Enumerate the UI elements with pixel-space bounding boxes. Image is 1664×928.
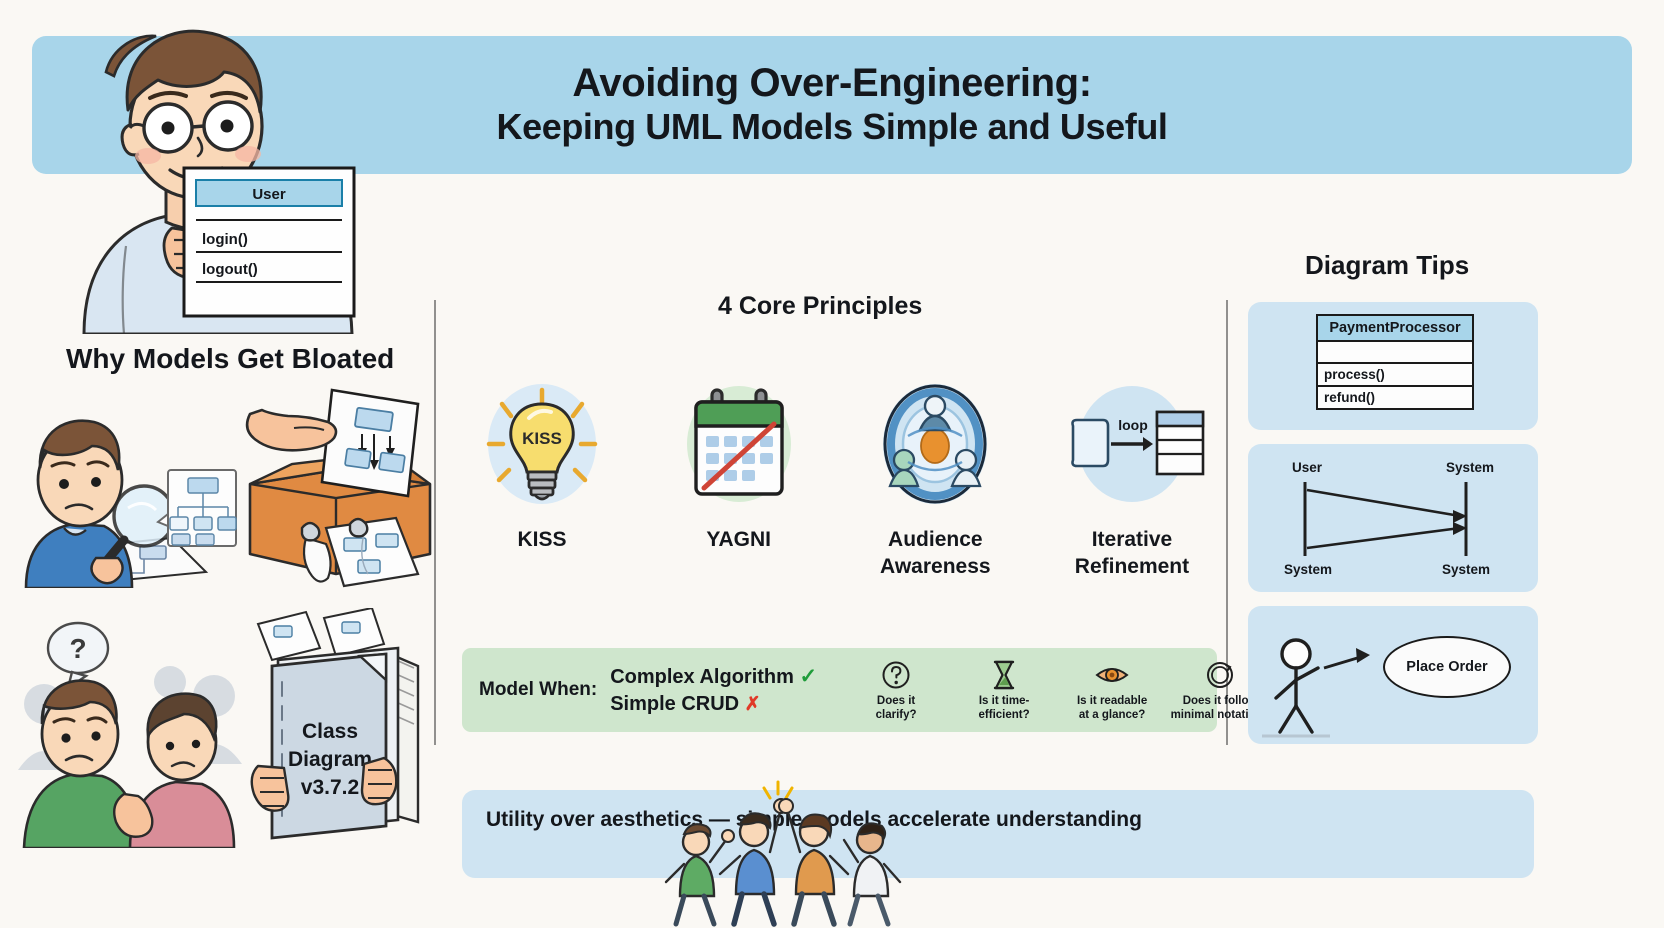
check-readable-text: Is it readable at a glance? bbox=[1077, 695, 1147, 723]
principle-label-kiss: KISS bbox=[517, 527, 566, 554]
tip-card-use-case-diagram[interactable]: Place Order bbox=[1248, 606, 1538, 744]
model-when-rows: Complex Algorithm ✓ Simple CRUD ✗ bbox=[610, 663, 817, 718]
use-case-oval: Place Order bbox=[1383, 636, 1511, 698]
actor-arrow bbox=[1324, 648, 1370, 668]
magnifier-person-illustration bbox=[20, 388, 240, 588]
uml-class-name: PaymentProcessor bbox=[1318, 316, 1472, 342]
team-member-orange bbox=[779, 799, 848, 924]
principle-audience-awareness[interactable]: Audience Awareness bbox=[845, 382, 1025, 612]
audience-target-icon bbox=[860, 382, 1010, 507]
model-when-text-no: Simple CRUD bbox=[610, 693, 739, 715]
team-high-five-illustration bbox=[660, 778, 910, 928]
uml-method-1: refund() bbox=[1318, 387, 1472, 408]
principle-iterative-refinement[interactable]: loop Iterative Refinement bbox=[1042, 382, 1222, 612]
audience-label-line-1: Audience bbox=[888, 528, 983, 551]
team-member-white bbox=[844, 823, 900, 924]
audience-label-line-2: Awareness bbox=[880, 555, 991, 578]
check-clarify-text: Does it clarify? bbox=[876, 695, 917, 723]
check-time-efficient-text: Is it time- efficient? bbox=[979, 695, 1030, 723]
confused-people-illustration: ? bbox=[18, 618, 248, 848]
diagram-tips-heading: Diagram Tips bbox=[1305, 250, 1469, 281]
question-speech-bubble: ? bbox=[48, 623, 108, 688]
lightbulb-icon: KISS bbox=[467, 382, 617, 507]
core-principles-heading: 4 Core Principles bbox=[718, 292, 922, 321]
bottom-message-banner: Utility over aesthetics — simple models … bbox=[462, 790, 1534, 878]
hero-card-class-name: User bbox=[252, 186, 286, 203]
loop-label: loop bbox=[1118, 417, 1148, 433]
question-mark-glyph: ? bbox=[69, 633, 86, 664]
held-class-card: User login() logout() bbox=[184, 168, 354, 316]
hero-card-method-0: login() bbox=[202, 231, 248, 248]
calendar-crossed-icon bbox=[664, 382, 814, 507]
principle-label-iterative: Iterative Refinement bbox=[1075, 527, 1189, 581]
team-member-green bbox=[666, 824, 734, 924]
hourglass-icon bbox=[989, 658, 1019, 692]
cross-mark-icon: ✗ bbox=[745, 694, 761, 715]
loop-refinement-icon: loop bbox=[1057, 382, 1207, 507]
inserted-diagram-sheet bbox=[322, 390, 418, 496]
uml-attributes-compartment bbox=[1318, 342, 1472, 364]
title-line-1: Avoiding Over-Engineering: bbox=[572, 61, 1091, 106]
model-when-row-no: Simple CRUD ✗ bbox=[610, 691, 817, 718]
why-bloated-heading: Why Models Get Bloated bbox=[66, 343, 394, 375]
quality-checklist: Does it clarify? Is it time- efficient? bbox=[842, 658, 1280, 723]
spec-book-illustration: Class Diagram v3.7.2 bbox=[248, 608, 433, 853]
check-readable[interactable]: Is it readable at a glance? bbox=[1058, 658, 1166, 723]
principle-label-audience: Audience Awareness bbox=[880, 527, 991, 581]
question-circle-icon bbox=[881, 658, 911, 692]
book-title-line-3: v3.7.2 bbox=[301, 776, 359, 799]
principle-yagni[interactable]: YAGNI bbox=[649, 382, 829, 612]
model-when-text-yes: Complex Algorithm bbox=[610, 666, 794, 688]
model-when-label: Model When: bbox=[479, 679, 597, 701]
principle-kiss[interactable]: KISS KISS bbox=[452, 382, 632, 612]
title-line-2: Keeping UML Models Simple and Useful bbox=[496, 105, 1167, 149]
check-time-efficient[interactable]: Is it time- efficient? bbox=[950, 658, 1058, 723]
circular-arrow-icon bbox=[1205, 658, 1235, 692]
iterative-label-line-1: Iterative bbox=[1092, 528, 1173, 551]
source-sketch-box bbox=[1072, 420, 1108, 466]
hand-pushing-paper bbox=[247, 410, 336, 450]
check-mark-icon: ✓ bbox=[799, 665, 817, 688]
eye-icon bbox=[1095, 658, 1129, 692]
focus-dot bbox=[921, 429, 949, 463]
bulb-badge-text: KISS bbox=[522, 429, 562, 448]
uml-method-0: process() bbox=[1318, 364, 1472, 387]
book-title-line-1: Class bbox=[302, 720, 358, 743]
book-title-line-2: Diagram bbox=[288, 748, 372, 771]
stick-figure-actor bbox=[1276, 640, 1318, 732]
refined-table bbox=[1157, 412, 1203, 474]
uml-class-box: PaymentProcessor process() refund() bbox=[1316, 314, 1474, 410]
model-when-band: Model When: Complex Algorithm ✓ Simple C… bbox=[462, 648, 1217, 732]
hero-person-illustration: User login() logout() bbox=[62, 14, 402, 334]
team-member-blue bbox=[720, 799, 788, 924]
core-principles-row: KISS KISS bbox=[452, 382, 1222, 612]
check-clarify[interactable]: Does it clarify? bbox=[842, 658, 950, 723]
iterative-label-line-2: Refinement bbox=[1075, 555, 1189, 578]
stuffing-box-illustration bbox=[240, 378, 440, 588]
infographic-canvas: Avoiding Over-Engineering: Keeping UML M… bbox=[0, 0, 1664, 928]
model-when-row-yes: Complex Algorithm ✓ bbox=[610, 663, 817, 691]
principle-label-yagni: YAGNI bbox=[706, 527, 771, 554]
hero-card-method-1: logout() bbox=[202, 261, 258, 278]
high-five-spark bbox=[764, 782, 792, 798]
sequence-diagram-graphic bbox=[1248, 444, 1538, 592]
tip-card-sequence-diagram[interactable]: User System System System bbox=[1248, 444, 1538, 592]
tip-card-class-diagram[interactable]: PaymentProcessor process() refund() bbox=[1248, 302, 1538, 430]
floating-diagram-panel bbox=[158, 470, 236, 546]
